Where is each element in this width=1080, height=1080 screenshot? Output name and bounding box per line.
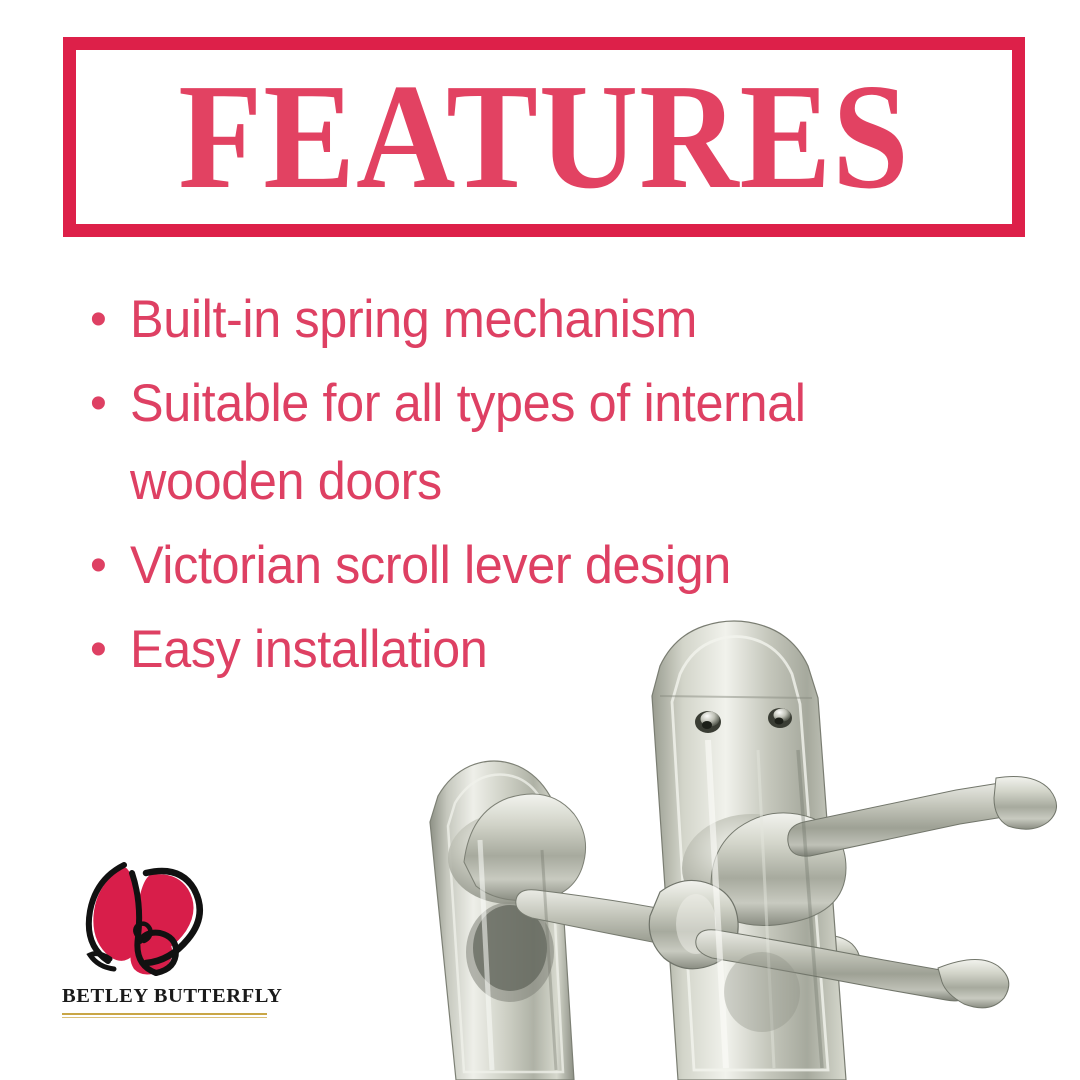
- list-item-label: Victorian scroll lever design: [130, 527, 903, 605]
- logo-divider-line-2: [62, 1017, 267, 1019]
- bullet-icon: •: [84, 527, 130, 605]
- bullet-icon: •: [84, 365, 130, 443]
- title-box: FEATURES: [63, 37, 1025, 237]
- feature-slide: FEATURES • Built-in spring mechanism • S…: [0, 0, 1080, 1080]
- product-image: [360, 600, 1080, 1080]
- door-handle-right: [649, 621, 1056, 1080]
- page-title: FEATURES: [109, 62, 979, 213]
- screw-hole-upper-right: [768, 708, 792, 728]
- logo-divider: [62, 1013, 267, 1018]
- butterfly-icon: [76, 845, 216, 980]
- list-item: • Victorian scroll lever design: [84, 527, 944, 605]
- screw-hole-upper-left: [695, 711, 721, 733]
- list-item: • Suitable for all types of internal woo…: [84, 365, 944, 521]
- logo-wordmark: BETLEY BUTTERFLY: [62, 985, 267, 1008]
- list-item-label: Suitable for all types of internal woode…: [130, 365, 903, 521]
- brand-logo: BETLEY BUTTERFLY: [62, 845, 272, 1030]
- bullet-icon: •: [84, 611, 130, 689]
- bullet-icon: •: [84, 281, 130, 359]
- list-item: • Built-in spring mechanism: [84, 281, 944, 359]
- logo-divider-line-1: [62, 1013, 267, 1015]
- list-item-label: Built-in spring mechanism: [130, 281, 903, 359]
